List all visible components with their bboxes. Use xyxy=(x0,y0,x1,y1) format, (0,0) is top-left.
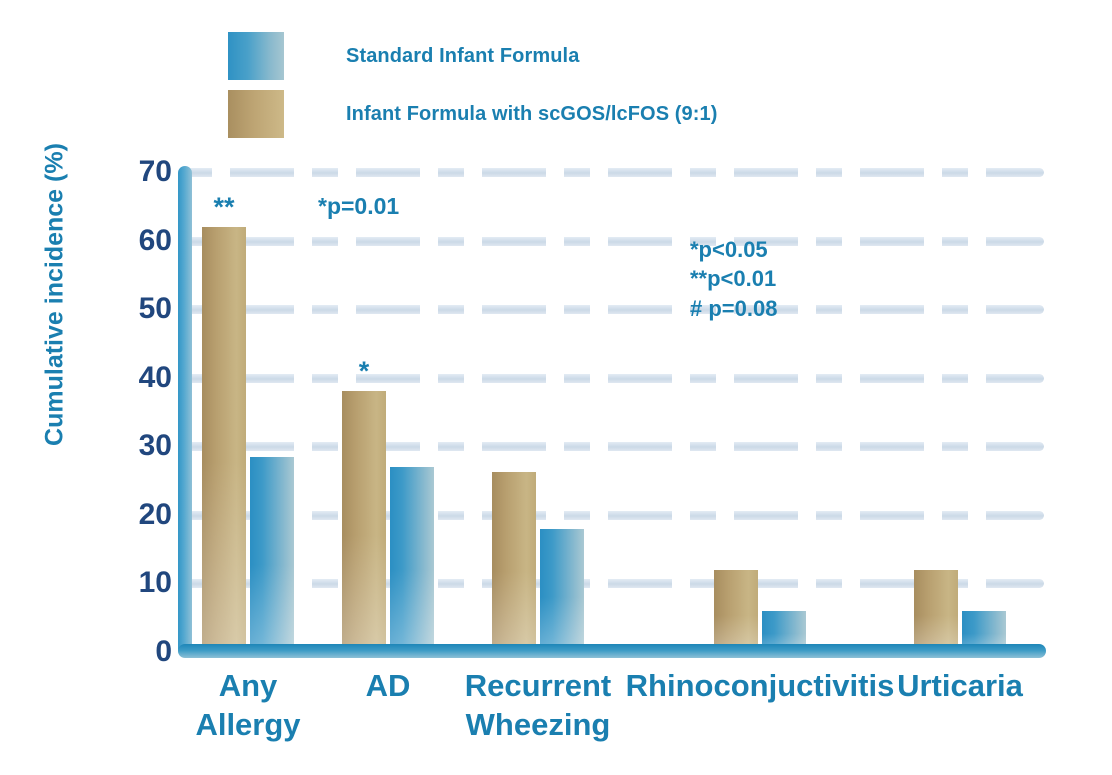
y-tick-label-40: 40 xyxy=(108,361,172,395)
x-category-label: AD xyxy=(366,666,411,705)
plot-area: *** xyxy=(186,172,1044,652)
bar[interactable] xyxy=(492,472,536,652)
bar[interactable] xyxy=(202,227,246,652)
x-axis-line xyxy=(178,644,1046,658)
x-category-label: Urticaria xyxy=(897,666,1023,705)
bar[interactable] xyxy=(540,529,584,652)
bars-layer xyxy=(186,172,1044,652)
x-category-label: AnyAllergy xyxy=(195,666,300,744)
y-tick-label-30: 30 xyxy=(108,429,172,463)
y-axis-title: Cumulative incidence (%) xyxy=(41,95,70,495)
legend-item-standard-infant-formula[interactable]: Standard Infant Formula xyxy=(228,27,848,85)
bar[interactable] xyxy=(390,467,434,652)
y-tick-label-60: 60 xyxy=(108,224,172,258)
legend-label-scgos-lcfos-formula: Infant Formula with scGOS/lcFOS (9:1) xyxy=(346,103,718,126)
y-axis-tick-labels: 010203040506070 xyxy=(108,0,172,775)
significance-mark: * xyxy=(359,358,370,385)
y-tick-label-0: 0 xyxy=(108,635,172,669)
y-tick-label-50: 50 xyxy=(108,292,172,326)
legend-swatch-blue-icon xyxy=(228,32,284,80)
x-axis-category-labels: AnyAllergyADRecurrentWheezingRhinoconjuc… xyxy=(186,666,1044,766)
y-tick-label-70: 70 xyxy=(108,155,172,189)
pvalue-key-line-1: *p<0.05 xyxy=(690,235,777,264)
chart-legend: Standard Infant Formula Infant Formula w… xyxy=(228,27,848,143)
bar[interactable] xyxy=(714,570,758,652)
x-category-label: RecurrentWheezing xyxy=(465,666,611,744)
y-axis-line xyxy=(178,166,192,656)
annotation-ad-pvalue: *p=0.01 xyxy=(318,195,399,218)
pvalue-key-line-2: **p<0.01 xyxy=(690,264,777,293)
pvalue-key-line-3: # p=0.08 xyxy=(690,294,777,323)
pvalue-key: *p<0.05 **p<0.01 # p=0.08 xyxy=(690,235,777,323)
bar[interactable] xyxy=(914,570,958,652)
y-tick-label-10: 10 xyxy=(108,566,172,600)
x-category-label: Rhinoconjuctivitis xyxy=(626,666,895,705)
y-tick-label-20: 20 xyxy=(108,498,172,532)
chart-container: Standard Infant Formula Infant Formula w… xyxy=(0,0,1112,775)
legend-label-standard-infant-formula: Standard Infant Formula xyxy=(346,45,579,68)
bar[interactable] xyxy=(250,457,294,652)
bar[interactable] xyxy=(342,391,386,652)
significance-mark: ** xyxy=(213,194,234,221)
legend-item-scgos-lcfos-formula[interactable]: Infant Formula with scGOS/lcFOS (9:1) xyxy=(228,85,848,143)
legend-swatch-tan-icon xyxy=(228,90,284,138)
